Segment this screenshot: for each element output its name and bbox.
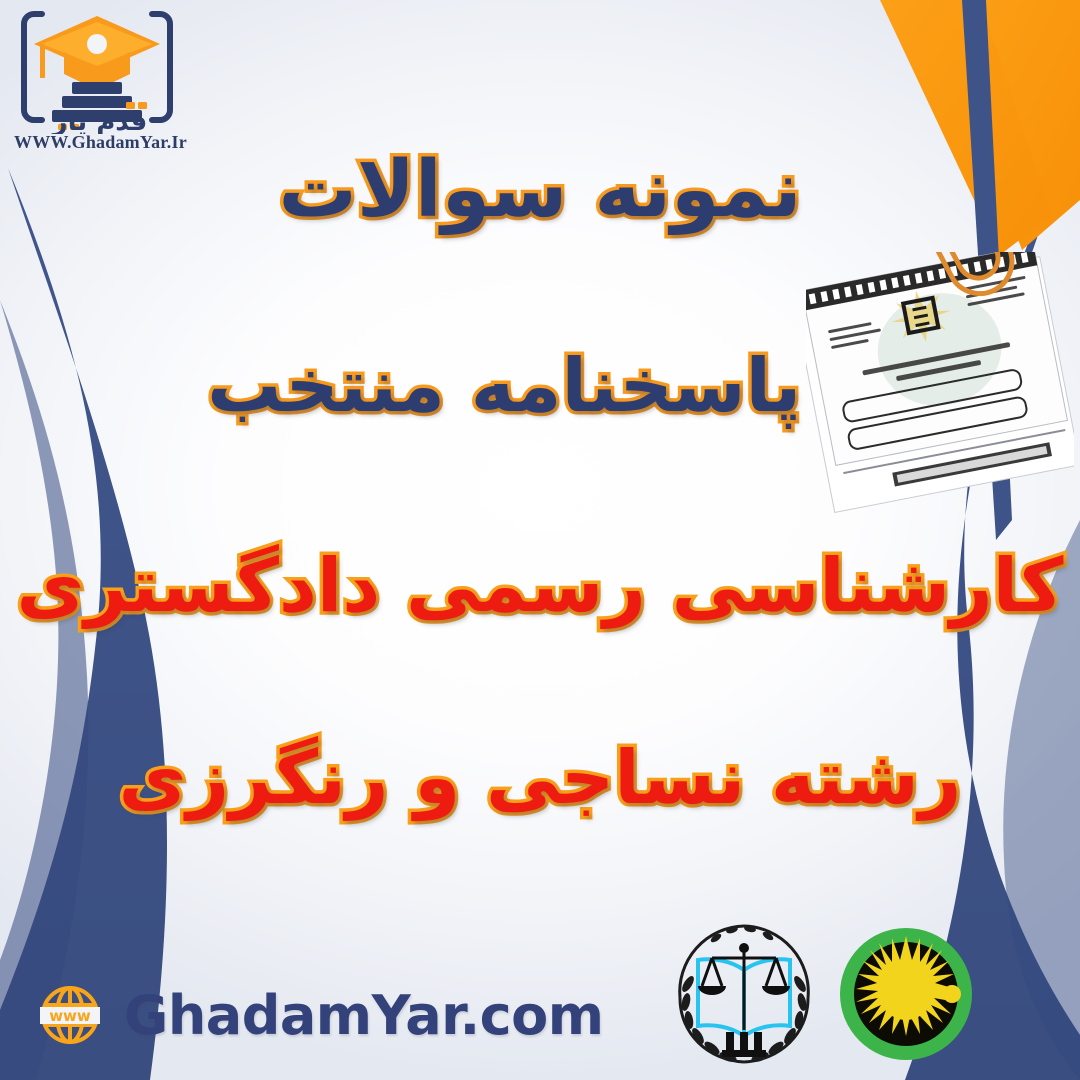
poster-canvas: قدم یار WWW.GhadamYar.Ir نمونه سوالات و … <box>0 0 1080 1080</box>
scales-of-justice-icon <box>664 912 824 1072</box>
sunburst-icon <box>838 926 974 1062</box>
brand-logo[interactable]: قدم یار WWW.GhadamYar.Ir <box>14 6 180 158</box>
footer-brand[interactable]: www GhadamYar.com <box>34 965 603 1065</box>
background-decoration <box>0 0 1080 1080</box>
svg-text:قدم یار: قدم یار <box>51 107 148 134</box>
www-globe-icon: www <box>34 979 106 1051</box>
footer-site-url: GhadamYar.com <box>124 984 603 1047</box>
brand-url: WWW.GhadamYar.Ir <box>14 132 180 153</box>
green-sunburst-seal <box>838 926 974 1062</box>
globe-www-label: www <box>49 1007 91 1025</box>
judiciary-expert-seal <box>664 912 824 1072</box>
graduation-cap-logo-icon: قدم یار <box>14 6 180 134</box>
exam-certificate-icon <box>806 252 1074 514</box>
certificate-image <box>806 252 1074 514</box>
